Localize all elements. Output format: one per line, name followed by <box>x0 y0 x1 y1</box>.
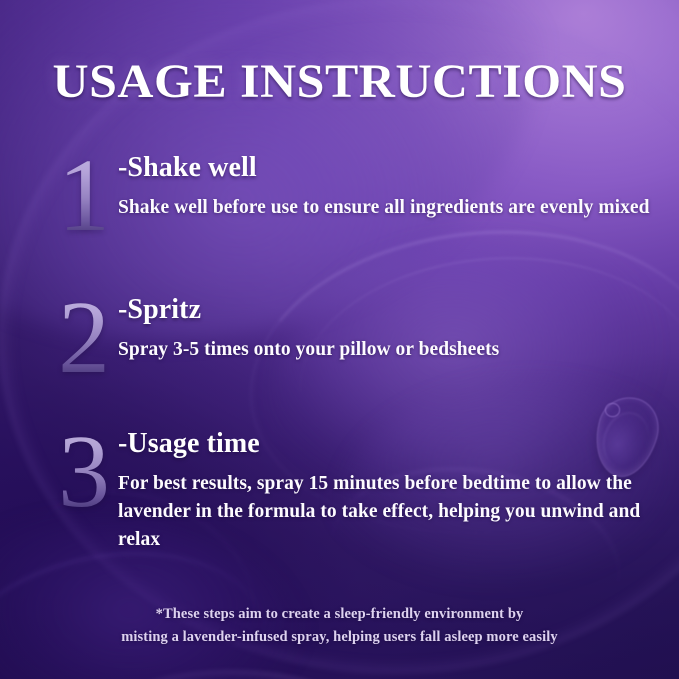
footnote: *These steps aim to create a sleep-frien… <box>0 603 679 649</box>
usage-instructions-poster: USAGE INSTRUCTIONS 1 -Shake well Shake w… <box>0 0 679 679</box>
step-number-3: 3 <box>46 420 120 524</box>
poster-content: USAGE INSTRUCTIONS 1 -Shake well Shake w… <box>0 0 679 679</box>
page-title: USAGE INSTRUCTIONS <box>0 58 679 106</box>
step-number-1: 1 <box>46 144 120 248</box>
step-body-2: -Spritz Spray 3-5 times onto your pillow… <box>118 292 655 364</box>
list-item: 1 -Shake well Shake well before use to e… <box>46 150 655 260</box>
step-description-1: Shake well before use to ensure all ingr… <box>118 194 655 222</box>
list-item: 2 -Spritz Spray 3-5 times onto your pill… <box>46 292 655 402</box>
footnote-line-2: misting a lavender-infused spray, helpin… <box>56 626 623 649</box>
step-heading-1: -Shake well <box>118 152 655 183</box>
step-description-2: Spray 3-5 times onto your pillow or beds… <box>118 336 655 364</box>
footnote-line-1: *These steps aim to create a sleep-frien… <box>56 603 623 626</box>
step-body-3: -Usage time For best results, spray 15 m… <box>118 426 655 553</box>
step-number-2: 2 <box>46 286 120 390</box>
step-description-3: For best results, spray 15 minutes befor… <box>118 470 655 553</box>
step-body-1: -Shake well Shake well before use to ens… <box>118 150 655 222</box>
list-item: 3 -Usage time For best results, spray 15… <box>46 426 655 553</box>
step-heading-2: -Spritz <box>118 294 655 325</box>
steps-list: 1 -Shake well Shake well before use to e… <box>46 150 655 553</box>
step-heading-3: -Usage time <box>118 428 655 459</box>
